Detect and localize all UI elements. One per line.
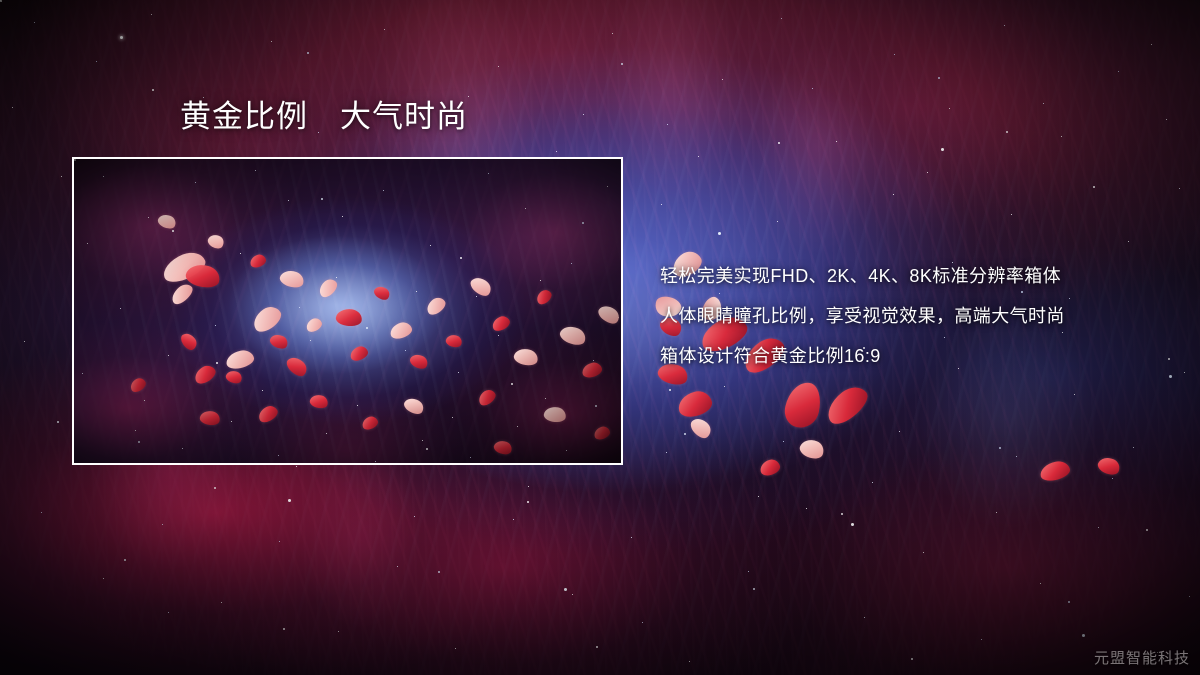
product-image-frame[interactable] bbox=[72, 157, 623, 465]
brand-watermark: 元盟智能科技 bbox=[1094, 650, 1190, 668]
page-title: 黄金比例 大气时尚 bbox=[180, 99, 468, 135]
petal bbox=[676, 388, 715, 420]
petal bbox=[1038, 459, 1071, 483]
body-line-3: 箱体设计符合黄金比例16:9 bbox=[660, 336, 1160, 376]
petal-shape bbox=[1096, 454, 1123, 478]
body-line-2: 人体眼睛瞳孔比例，享受视觉效果，高端大气时尚 bbox=[660, 296, 1160, 336]
petal bbox=[1096, 454, 1123, 478]
petal-shape bbox=[782, 379, 825, 431]
petal-shape bbox=[821, 381, 873, 430]
panel-vignette bbox=[74, 159, 621, 463]
petal bbox=[782, 379, 825, 431]
body-line-1: 轻松完美实现FHD、2K、4K、8K标准分辨率箱体 bbox=[660, 256, 1160, 296]
petal-shape bbox=[758, 458, 781, 478]
petal bbox=[798, 436, 827, 462]
petal bbox=[688, 414, 715, 441]
body-text-block: 轻松完美实现FHD、2K、4K、8K标准分辨率箱体 人体眼睛瞳孔比例，享受视觉效… bbox=[660, 256, 1160, 376]
petal bbox=[758, 458, 781, 478]
petal-shape bbox=[676, 388, 715, 420]
petal-shape bbox=[1038, 459, 1071, 483]
petal-shape bbox=[688, 414, 715, 441]
petal bbox=[821, 381, 873, 430]
petal-shape bbox=[798, 436, 827, 462]
slide-canvas: 黄金比例 大气时尚 轻松完美实现FHD、2K、4K、8K标准分辨率箱体 人体眼睛… bbox=[0, 0, 1200, 675]
